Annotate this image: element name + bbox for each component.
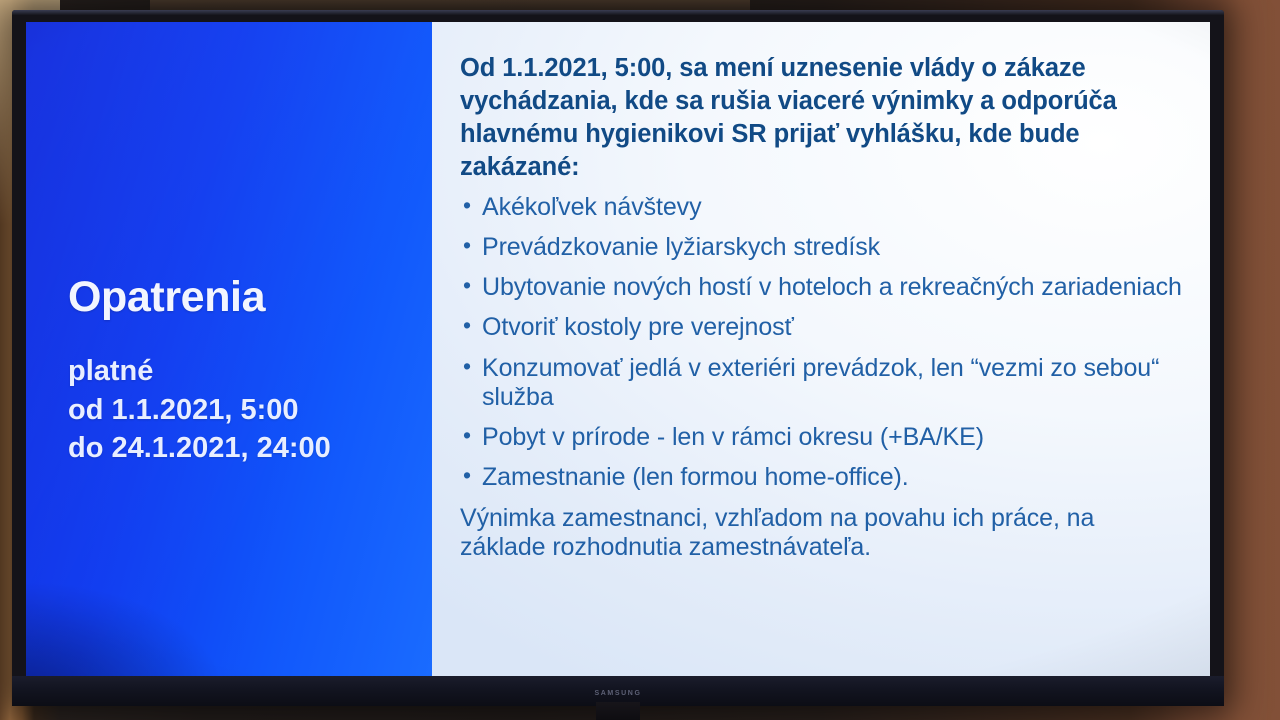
list-item: Akékoľvek návštevy [460, 193, 1184, 222]
validity-from: od 1.1.2021, 5:00 [68, 391, 331, 430]
room-scene: Opatrenia platné od 1.1.2021, 5:00 do 24… [0, 0, 1280, 720]
list-item: Pobyt v prírode - len v rámci okresu (+B… [460, 423, 1184, 452]
list-item: Prevádzkovanie lyžiarskych stredísk [460, 233, 1184, 262]
validity-block: platné od 1.1.2021, 5:00 do 24.1.2021, 2… [68, 352, 331, 468]
samsung-logo: SAMSUNG [595, 690, 642, 697]
validity-label: platné [68, 352, 331, 391]
restrictions-list: Akékoľvek návštevyPrevádzkovanie lyžiars… [460, 193, 1184, 493]
list-item: Ubytovanie nových hostí v hoteloch a rek… [460, 273, 1184, 302]
page-title: Opatrenia [68, 273, 265, 322]
tv-screen: Opatrenia platné od 1.1.2021, 5:00 do 24… [26, 22, 1210, 694]
bezel-top-lip [12, 10, 1224, 15]
television: Opatrenia platné od 1.1.2021, 5:00 do 24… [12, 10, 1224, 706]
validity-to: do 24.1.2021, 24:00 [68, 429, 331, 468]
list-item: Zamestnanie (len formou home-office). [460, 463, 1184, 492]
slide-left-panel: Opatrenia platné od 1.1.2021, 5:00 do 24… [26, 22, 432, 694]
presentation-slide: Opatrenia platné od 1.1.2021, 5:00 do 24… [26, 22, 1210, 694]
tv-stand-neck [596, 702, 640, 720]
list-item: Otvoriť kostoly pre verejnosť [460, 313, 1184, 342]
footnote-paragraph: Výnimka zamestnanci, vzhľadom na povahu … [460, 504, 1184, 563]
slide-content-panel: Od 1.1.2021, 5:00, sa mení uznesenie vlá… [432, 22, 1210, 694]
lead-paragraph: Od 1.1.2021, 5:00, sa mení uznesenie vlá… [460, 52, 1184, 184]
list-item: Konzumovať jedlá v exteriéri prevádzok, … [460, 354, 1184, 413]
